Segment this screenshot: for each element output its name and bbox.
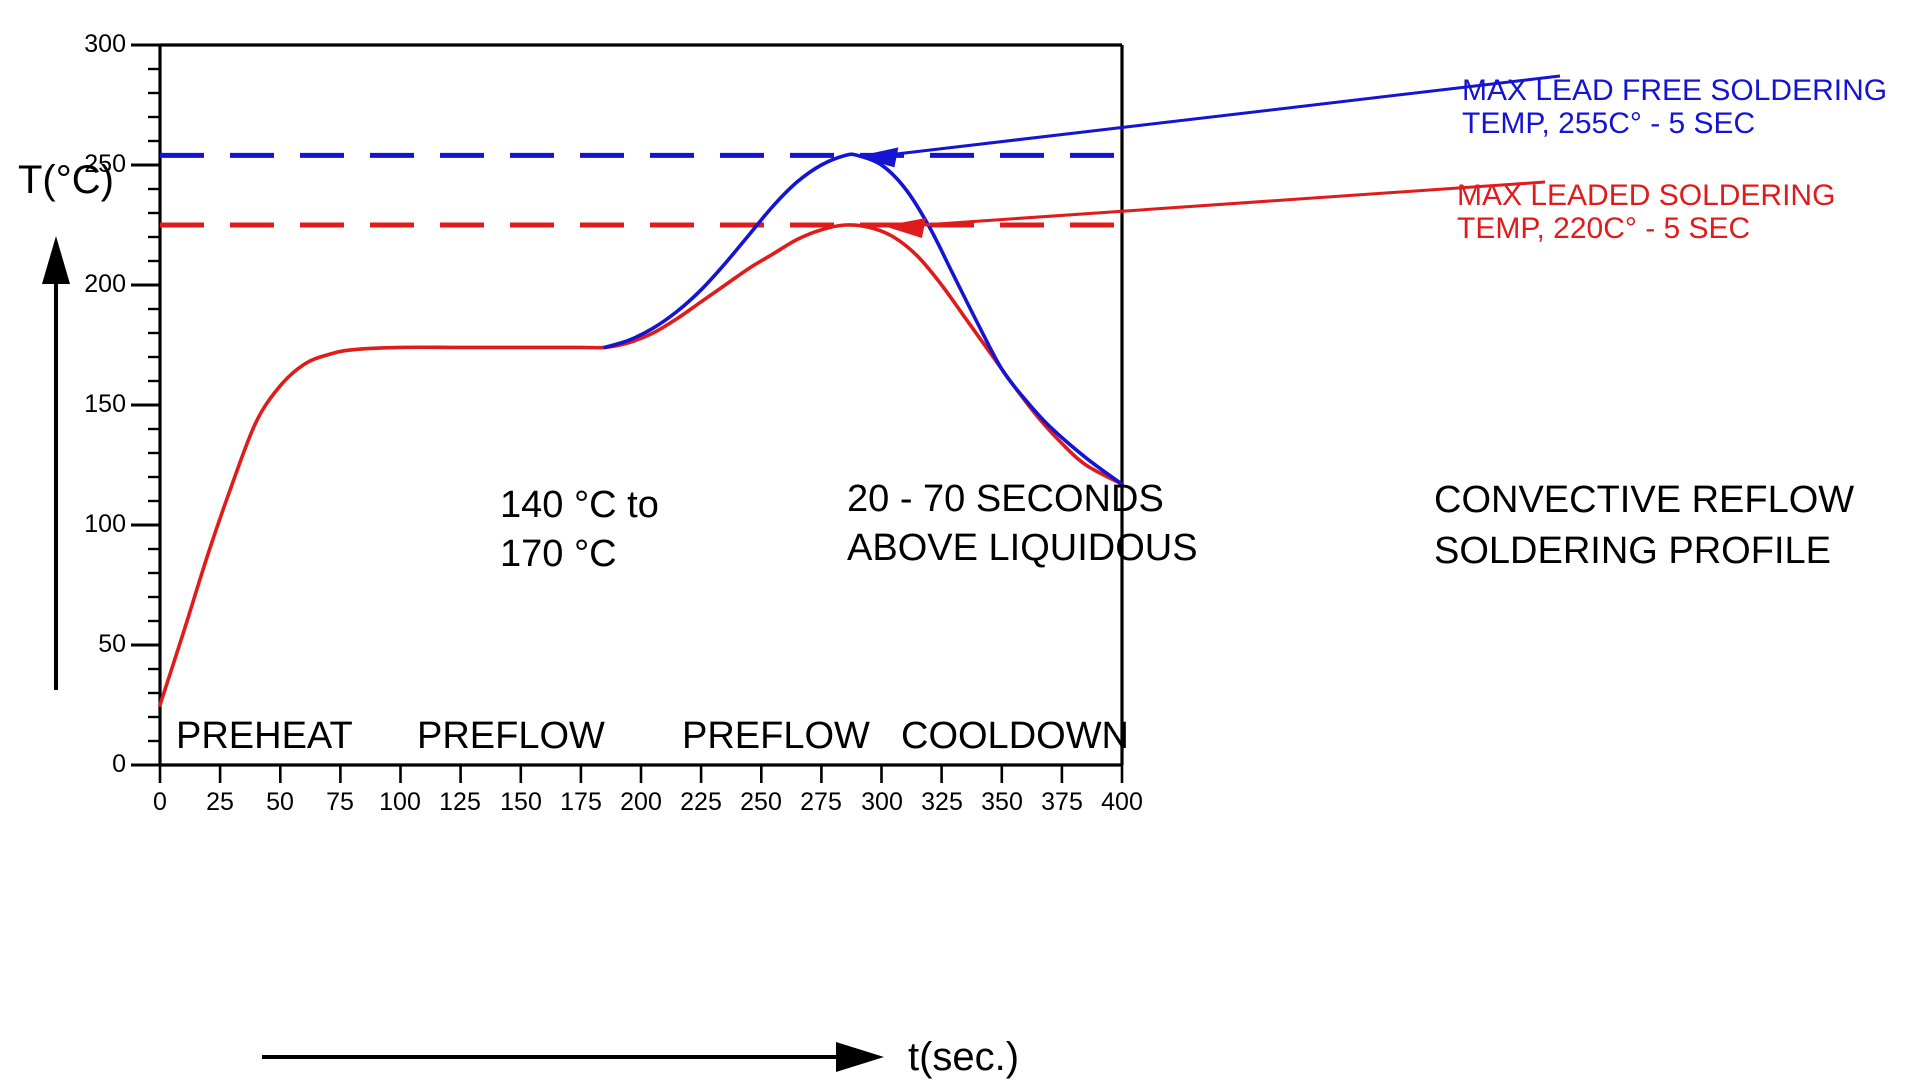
y-tick-label-300: 300 bbox=[76, 30, 126, 60]
liquidous-annotation-line1: 20 - 70 SECONDS bbox=[847, 477, 1164, 522]
y-tick-label-150: 150 bbox=[76, 390, 126, 420]
zone-label-cooldown: COOLDOWN bbox=[901, 714, 1129, 759]
x-tick-label-250: 250 bbox=[731, 788, 791, 818]
liquidous-annotation-line2: ABOVE LIQUIDOUS bbox=[847, 526, 1198, 571]
leaded-annotation-line2: TEMP, 220C° - 5 SEC bbox=[1457, 211, 1750, 246]
x-tick-label-325: 325 bbox=[912, 788, 972, 818]
y-tick-label-200: 200 bbox=[76, 270, 126, 300]
x-tick-label-125: 125 bbox=[430, 788, 490, 818]
x-tick-label-200: 200 bbox=[611, 788, 671, 818]
x-tick-label-175: 175 bbox=[551, 788, 611, 818]
x-tick-label-100: 100 bbox=[370, 788, 430, 818]
x-tick-label-350: 350 bbox=[972, 788, 1032, 818]
y-tick-label-250: 250 bbox=[76, 150, 126, 180]
x-tick-label-225: 225 bbox=[671, 788, 731, 818]
x-tick-label-0: 0 bbox=[130, 788, 190, 818]
soak-temp-annotation-line1: 140 °C to bbox=[500, 483, 659, 528]
y-tick-label-0: 0 bbox=[76, 750, 126, 780]
y-axis-ticks bbox=[131, 45, 160, 765]
y-tick-label-100: 100 bbox=[76, 510, 126, 540]
zone-label-preflow-1: PREFLOW bbox=[417, 714, 605, 759]
time-axis-arrow bbox=[262, 1042, 884, 1072]
leaded-profile-curve bbox=[160, 225, 1122, 705]
leaded-leader-line bbox=[884, 182, 1545, 238]
lead-free-profile-curve bbox=[605, 154, 1122, 484]
chart-title-line1: CONVECTIVE REFLOW bbox=[1434, 478, 1854, 523]
t-axis-arrow bbox=[42, 236, 70, 690]
lead-free-annotation-line1: MAX LEAD FREE SOLDERING bbox=[1462, 73, 1887, 108]
chart-title-line2: SOLDERING PROFILE bbox=[1434, 529, 1831, 574]
leaded-annotation-line1: MAX LEADED SOLDERING bbox=[1457, 178, 1835, 213]
lead-free-annotation-line2: TEMP, 255C° - 5 SEC bbox=[1462, 106, 1755, 141]
x-tick-label-75: 75 bbox=[310, 788, 370, 818]
soak-temp-annotation-line2: 170 °C bbox=[500, 532, 617, 577]
zone-label-preheat: PREHEAT bbox=[176, 714, 353, 759]
x-axis-ticks bbox=[160, 765, 1122, 783]
x-tick-label-50: 50 bbox=[250, 788, 310, 818]
x-axis-label: t(sec.) bbox=[908, 1034, 1019, 1081]
x-tick-label-375: 375 bbox=[1032, 788, 1092, 818]
x-tick-label-25: 25 bbox=[190, 788, 250, 818]
zone-label-preflow-2: PREFLOW bbox=[682, 714, 870, 759]
y-tick-label-50: 50 bbox=[76, 630, 126, 660]
x-tick-label-150: 150 bbox=[491, 788, 551, 818]
x-tick-label-400: 400 bbox=[1092, 788, 1152, 818]
x-tick-label-275: 275 bbox=[791, 788, 851, 818]
x-tick-label-300: 300 bbox=[852, 788, 912, 818]
